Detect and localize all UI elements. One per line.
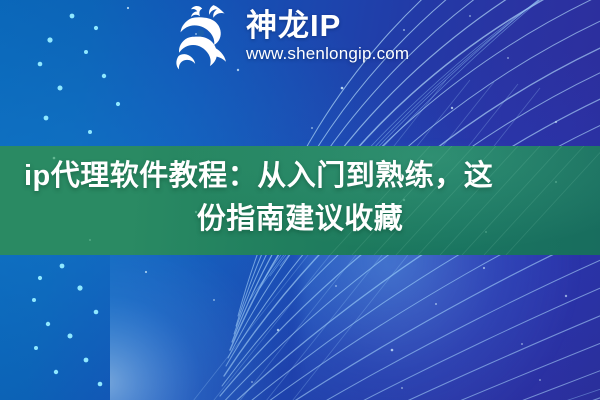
brand-lockup: 神龙IP www.shenlongip.com: [168, 2, 443, 74]
banner-image: 神龙IP www.shenlongip.com: [0, 0, 600, 400]
brand-website-url: www.shenlongip.com: [246, 43, 409, 65]
brand-text: 神龙IP www.shenlongip.com: [246, 9, 409, 65]
page-title-line-2: 份指南建议收藏: [14, 198, 586, 241]
page-title: ip代理软件教程：从入门到熟练，这 份指南建议收藏: [0, 146, 600, 241]
brand-name-cn: 神龙IP: [246, 9, 409, 42]
title-band: ip代理软件教程：从入门到熟练，这 份指南建议收藏: [0, 146, 600, 255]
page-title-line-1: ip代理软件教程：从入门到熟练，这: [14, 155, 586, 198]
dragon-head-icon: [168, 3, 242, 73]
